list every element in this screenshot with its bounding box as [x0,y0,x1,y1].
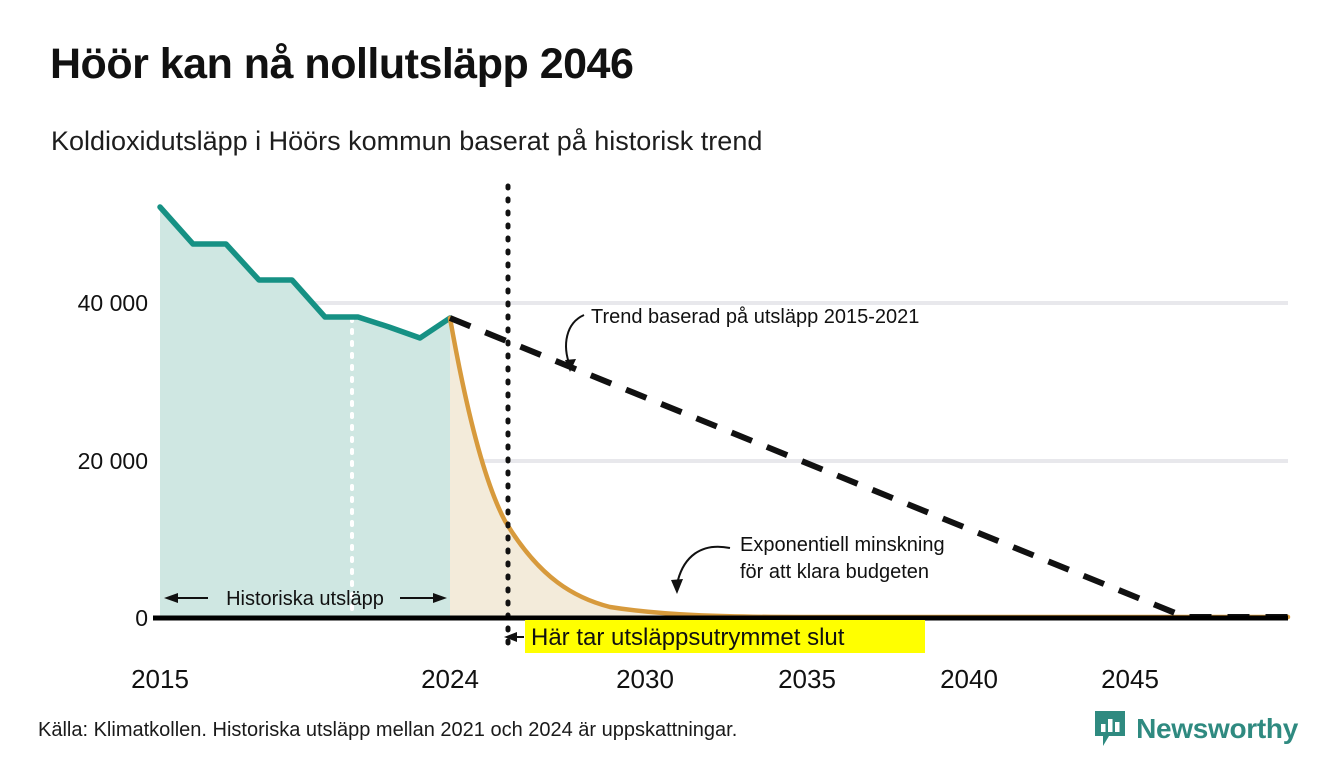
budget-end-label: Här tar utsläppsutrymmet slut [531,624,845,651]
exponential-annotation: Exponentiell minskning för att klara bud… [671,534,945,594]
newsworthy-bar-chart-bubble-icon [1093,710,1127,748]
x-tick-label: 2024 [421,664,479,694]
chart-container: 40 000 20 000 0 2015 2024 2030 2035 2040… [0,0,1340,780]
historical-span-label: Historiska utsläpp [226,588,384,610]
historical-area [160,207,450,618]
x-tick-label: 2040 [940,664,998,694]
newsworthy-logo: Newsworthy [1093,710,1298,748]
x-tick-label: 2015 [131,664,189,694]
y-tick-label: 0 [135,605,148,631]
x-tick-label: 2030 [616,664,674,694]
exponential-annotation-line2: för att klara budgeten [740,561,929,583]
y-tick-label: 40 000 [78,290,148,316]
trend-annotation-label: Trend baserad på utsläpp 2015-2021 [591,306,919,328]
x-tick-label: 2035 [778,664,836,694]
budget-end-annotation: Här tar utsläppsutrymmet slut [504,620,925,653]
trend-annotation: Trend baserad på utsläpp 2015-2021 [565,306,919,372]
exponential-annotation-line1: Exponentiell minskning [740,534,945,556]
x-axis-labels: 2015 2024 2030 2035 2040 2045 [131,664,1159,694]
emissions-chart: 40 000 20 000 0 2015 2024 2030 2035 2040… [0,0,1340,710]
y-axis-labels: 40 000 20 000 0 [78,290,148,631]
x-tick-label: 2045 [1101,664,1159,694]
newsworthy-wordmark: Newsworthy [1136,713,1298,745]
y-tick-label: 20 000 [78,448,148,474]
source-note: Källa: Klimatkollen. Historiska utsläpp … [38,719,737,742]
